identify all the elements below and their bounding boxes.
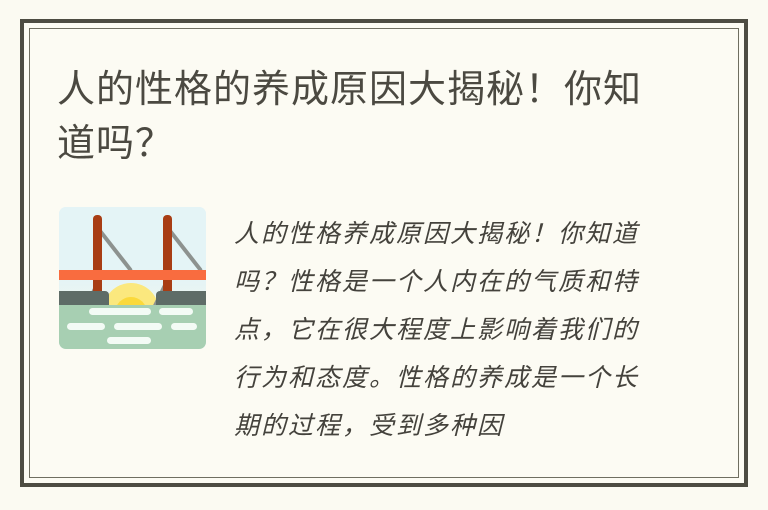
wave-dash-4 (114, 323, 162, 330)
wave-dash-1 (89, 308, 151, 315)
article-body-text: 人的性格养成原因大揭秘！你知道吗？性格是一个人内在的气质和特点，它在很大程度上影… (234, 210, 646, 450)
article-card-page: 人的性格的养成原因大揭秘！你知道吗？ 人的性格养成原因大揭秘！你知道吗？性格是一… (0, 0, 768, 510)
wave-dash-6 (107, 337, 151, 344)
water-surface (59, 305, 206, 349)
article-thumbnail[interactable] (59, 207, 206, 349)
page-title: 人的性格的养成原因大揭秘！你知道吗？ (57, 63, 677, 171)
wave-dash-5 (171, 323, 197, 330)
wave-dash-3 (67, 323, 105, 330)
wave-dash-2 (159, 308, 193, 315)
bridge-deck (59, 270, 206, 280)
